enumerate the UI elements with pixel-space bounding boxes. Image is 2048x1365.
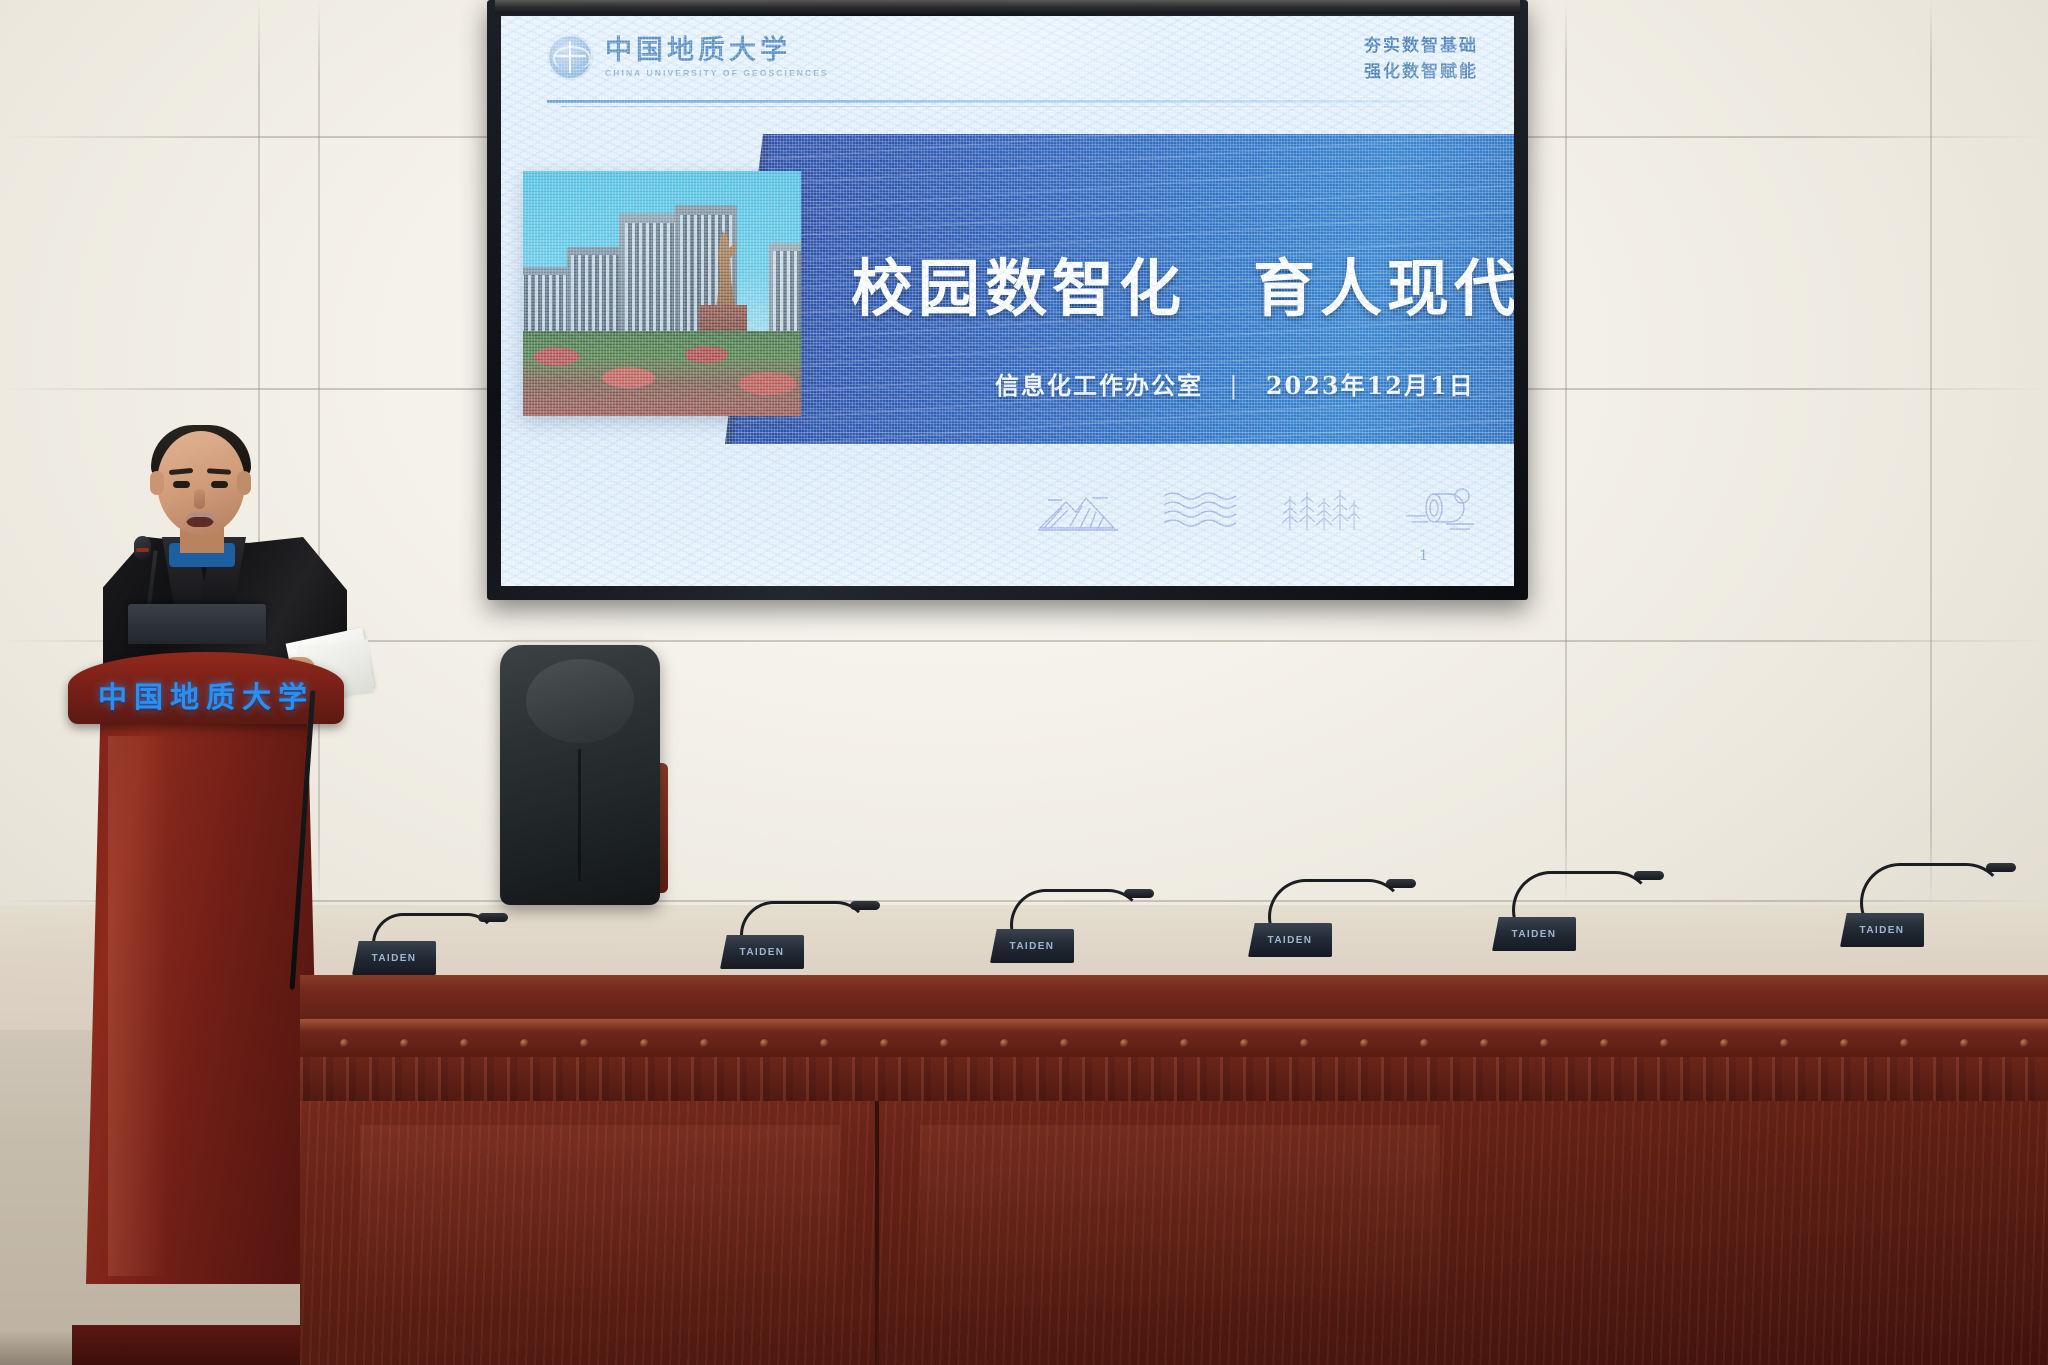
slide-subtitle: 信息化工作办公室 | 2023年12月1日 xyxy=(995,366,1475,401)
mountain-icon xyxy=(1036,486,1120,534)
campus-photo xyxy=(523,171,801,416)
water-waves-icon xyxy=(1160,486,1240,534)
slide-slogan: 夯实数智基础 强化数智赋能 xyxy=(1364,34,1478,85)
subtitle-separator: | xyxy=(1213,372,1255,400)
microphone-brand-label: TAIDEN xyxy=(1840,925,1924,936)
lectern-nameplate-text: 中国地质大学 xyxy=(68,674,344,716)
subtitle-date: 2023年12月1日 xyxy=(1266,371,1475,400)
logo-cn-name: 中国地质大学 xyxy=(605,37,829,64)
led-display-screen: 中国地质大学 CHINA UNIVERSITY OF GEOSCIENCES 夯… xyxy=(487,0,1528,600)
conference-room-scene: 中国地质大学 CHINA UNIVERSITY OF GEOSCIENCES 夯… xyxy=(0,0,2048,1365)
conference-table: TAIDEN TAIDEN TAIDEN TAIDEN TAIDEN TAIDE… xyxy=(300,975,2048,1365)
executive-chair xyxy=(500,645,660,985)
microphone-capsule-icon xyxy=(1634,871,1664,880)
table-microphone-3[interactable]: TAIDEN xyxy=(990,929,1074,963)
wall-seam xyxy=(1565,0,1567,905)
microphone-brand-label: TAIDEN xyxy=(1248,935,1332,946)
screen-glare xyxy=(811,16,1171,126)
presentation-slide: 中国地质大学 CHINA UNIVERSITY OF GEOSCIENCES 夯… xyxy=(501,16,1514,586)
forest-trees-icon xyxy=(1280,486,1360,534)
slide-page-number: 1 xyxy=(1419,548,1428,564)
microphone-capsule-icon xyxy=(1986,863,2016,872)
slide-logo: 中国地质大学 CHINA UNIVERSITY OF GEOSCIENCES xyxy=(547,34,829,80)
header-divider xyxy=(547,100,1474,103)
table-microphone-6[interactable]: TAIDEN xyxy=(1840,913,1924,947)
table-panel-seam xyxy=(875,1101,879,1365)
microphone-capsule-icon xyxy=(1124,889,1154,898)
header-divider-thin xyxy=(561,106,1474,107)
logo-en-name: CHINA UNIVERSITY OF GEOSCIENCES xyxy=(605,68,829,78)
geo-icon-row xyxy=(1036,486,1480,534)
table-microphone-1[interactable]: TAIDEN xyxy=(352,941,436,975)
rock-strata-icon xyxy=(1400,486,1480,534)
slogan-line-1: 夯实数智基础 xyxy=(1364,34,1478,60)
table-microphone-4[interactable]: TAIDEN xyxy=(1248,923,1332,957)
table-microphone-5[interactable]: TAIDEN xyxy=(1492,917,1576,951)
microphone-capsule-icon xyxy=(478,913,508,922)
subtitle-org: 信息化工作办公室 xyxy=(995,371,1203,400)
slide-title: 校园数智化 育人现代化 xyxy=(851,238,1514,328)
microphone-capsule-icon xyxy=(1386,879,1416,888)
microphone-brand-label: TAIDEN xyxy=(1492,929,1576,940)
microphone-capsule-icon xyxy=(850,901,880,910)
microphone-brand-label: TAIDEN xyxy=(990,941,1074,952)
table-fluted-molding xyxy=(300,1057,2048,1101)
laptop xyxy=(128,604,266,644)
microphone-brand-label: TAIDEN xyxy=(352,953,436,964)
microphone-brand-label: TAIDEN xyxy=(720,947,804,958)
wall-seam xyxy=(1930,0,1932,905)
table-microphone-2[interactable]: TAIDEN xyxy=(720,935,804,969)
screen-surface: 中国地质大学 CHINA UNIVERSITY OF GEOSCIENCES 夯… xyxy=(501,16,1514,586)
university-crest-icon xyxy=(547,34,593,80)
screen-mount-bar xyxy=(495,0,1520,14)
table-bead-molding xyxy=(300,1031,2048,1057)
lectern-nameplate: 中国地质大学 xyxy=(68,652,344,724)
slogan-line-2: 强化数智赋能 xyxy=(1364,60,1478,86)
